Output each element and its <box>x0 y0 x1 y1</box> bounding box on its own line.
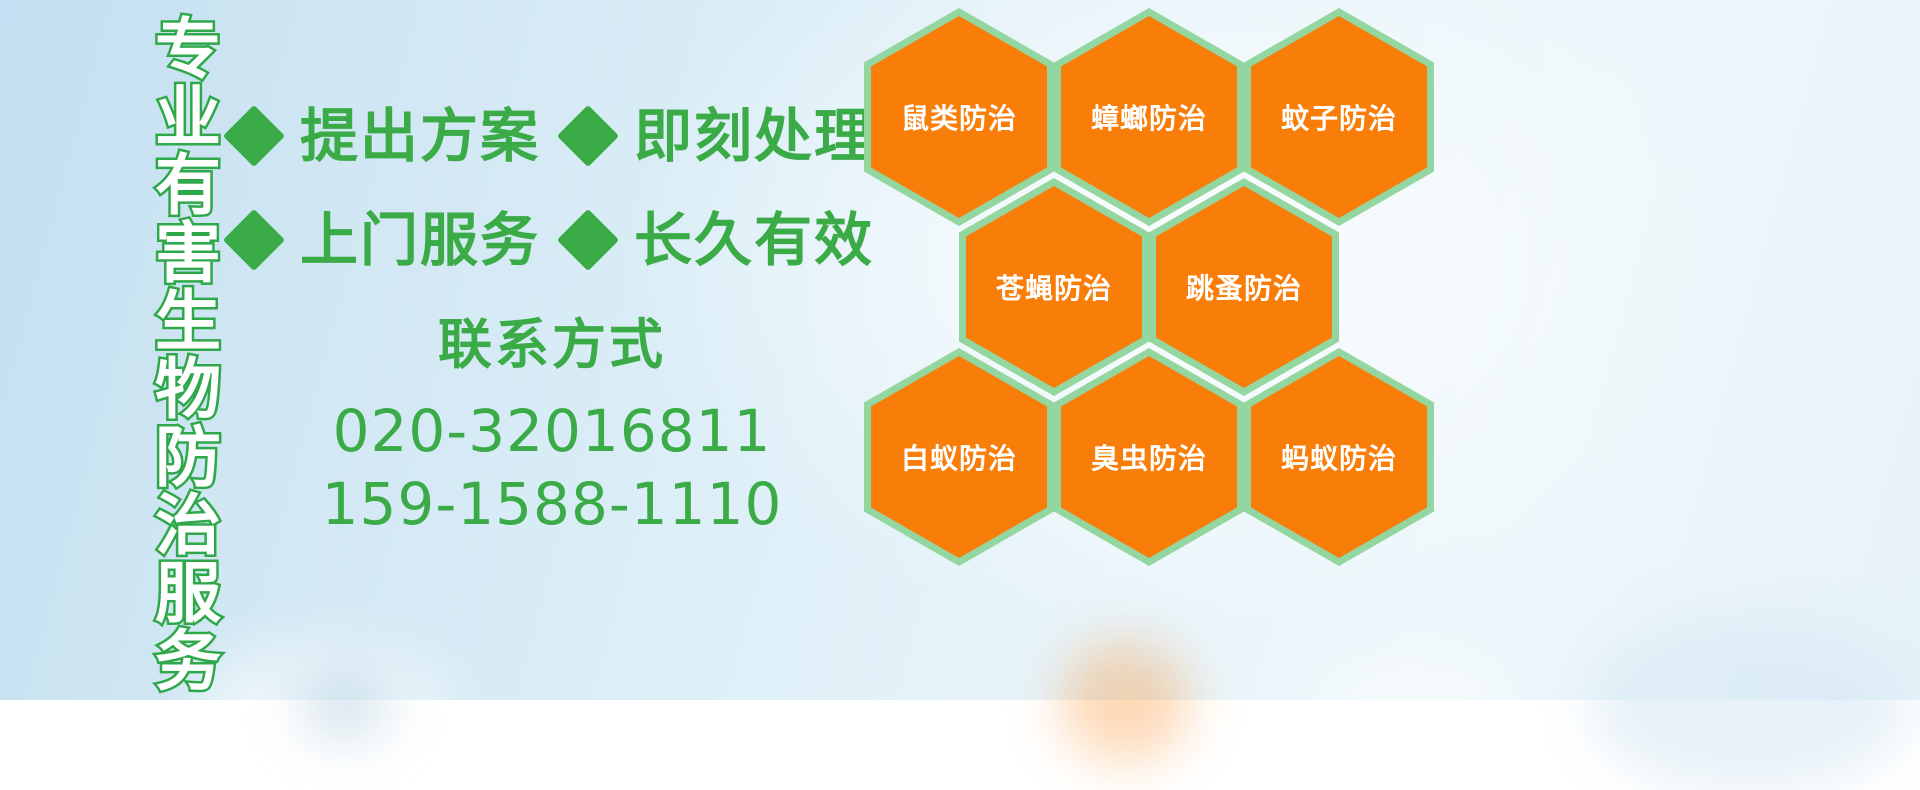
feature-item: 上门服务 <box>232 211 566 269</box>
service-label: 蚂蚁防治 <box>1281 437 1397 477</box>
background-blur-blob <box>1590 620 1910 790</box>
feature-label: 长久有效 <box>634 211 874 269</box>
service-hexagon-rodent[interactable]: 鼠类防治 <box>864 8 1054 226</box>
service-label: 跳蚤防治 <box>1186 267 1302 307</box>
background-blur-blob <box>300 670 390 740</box>
vertical-banner-title: 专业有害生物防治服务 <box>104 14 216 694</box>
service-label: 蟑螂防治 <box>1091 97 1207 137</box>
hexagon-inner: 苍蝇防治 <box>966 186 1142 388</box>
hexagon-inner: 白蚁防治 <box>871 356 1047 558</box>
feature-item: 即刻处理 <box>566 107 900 165</box>
service-label: 鼠类防治 <box>901 97 1017 137</box>
service-hexagon-ant[interactable]: 蚂蚁防治 <box>1244 348 1434 566</box>
background-blur-blob <box>1310 650 1510 780</box>
service-hexagon-fly[interactable]: 苍蝇防治 <box>959 178 1149 396</box>
feature-label: 上门服务 <box>300 211 540 269</box>
diamond-icon <box>223 209 285 271</box>
feature-item: 长久有效 <box>566 211 900 269</box>
background-blur-blob <box>1060 642 1190 762</box>
feature-label: 即刻处理 <box>634 107 874 165</box>
diamond-icon <box>557 105 619 167</box>
background-blur-blob <box>190 640 450 770</box>
service-label: 白蚁防治 <box>901 437 1017 477</box>
pest-control-banner: 专业有害生物防治服务 提出方案 即刻处理 上门服务 长久有效 联系方式 0 <box>0 0 1920 700</box>
service-hexagon-mosquito[interactable]: 蚊子防治 <box>1244 8 1434 226</box>
hexagon-inner: 蚂蚁防治 <box>1251 356 1427 558</box>
diamond-icon <box>557 209 619 271</box>
service-label: 臭虫防治 <box>1091 437 1207 477</box>
service-hexagon-cockroach[interactable]: 蟑螂防治 <box>1054 8 1244 226</box>
service-label: 苍蝇防治 <box>996 267 1112 307</box>
feature-item: 提出方案 <box>232 107 566 165</box>
service-hexagon-bedbug[interactable]: 臭虫防治 <box>1054 348 1244 566</box>
service-hexagon-termite[interactable]: 白蚁防治 <box>864 348 1054 566</box>
hexagon-inner: 蚊子防治 <box>1251 16 1427 218</box>
hexagon-inner: 蟑螂防治 <box>1061 16 1237 218</box>
hexagon-inner: 臭虫防治 <box>1061 356 1237 558</box>
contact-title: 联系方式 <box>232 300 872 379</box>
service-hexagon-grid: 鼠类防治 蟑螂防治 蚊子防治 苍蝇防治 跳蚤防治 白蚁防 <box>856 0 1456 560</box>
feature-list: 提出方案 即刻处理 上门服务 长久有效 <box>232 84 872 292</box>
diamond-icon <box>223 105 285 167</box>
feature-row: 上门服务 长久有效 <box>232 188 872 292</box>
phone-number-landline[interactable]: 020-32016811 <box>232 395 872 468</box>
feature-label: 提出方案 <box>300 107 540 165</box>
hexagon-inner: 跳蚤防治 <box>1156 186 1332 388</box>
hexagon-inner: 鼠类防治 <box>871 16 1047 218</box>
feature-row: 提出方案 即刻处理 <box>232 84 872 188</box>
contact-block: 联系方式 020-32016811 159-1588-1110 <box>232 300 872 540</box>
service-label: 蚊子防治 <box>1281 97 1397 137</box>
phone-number-mobile[interactable]: 159-1588-1110 <box>232 468 872 541</box>
service-hexagon-flea[interactable]: 跳蚤防治 <box>1149 178 1339 396</box>
